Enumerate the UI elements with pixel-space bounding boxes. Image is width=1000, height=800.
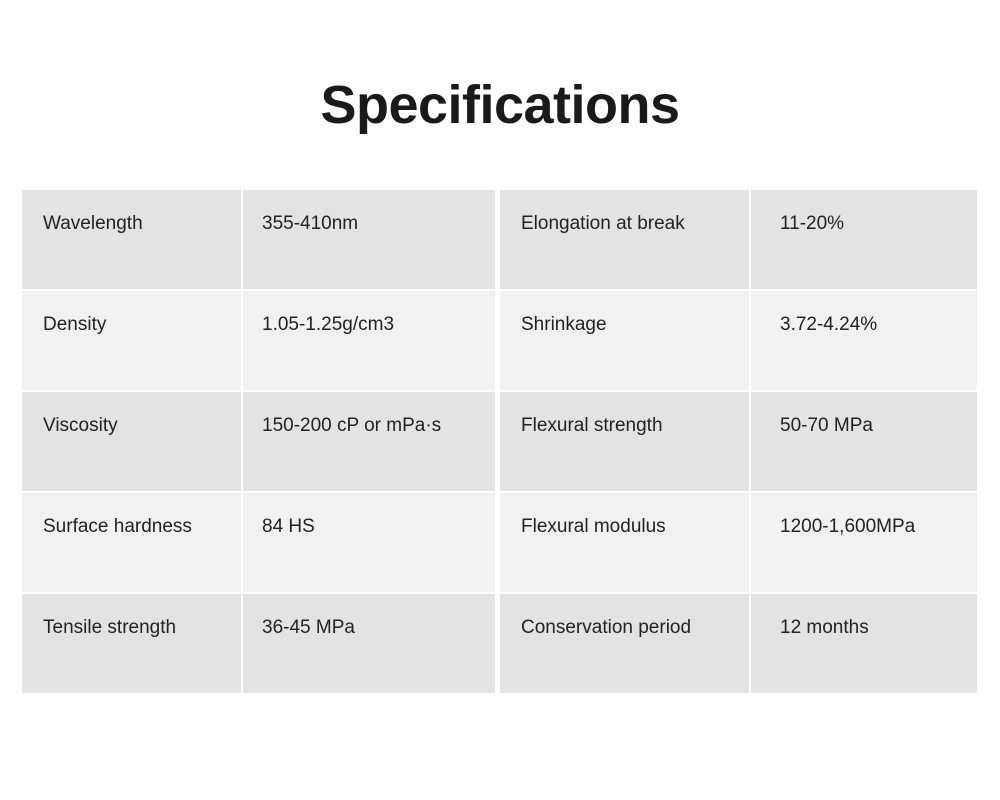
table-row-right-pair: Flexural modulus 1200-1,600MPa bbox=[500, 493, 977, 592]
table-row-left-pair: Tensile strength 36-45 MPa bbox=[22, 594, 495, 693]
spec-label: Tensile strength bbox=[22, 594, 241, 693]
table-row: Wavelength 355-410nm Elongation at break… bbox=[22, 190, 977, 289]
spec-value: 50-70 MPa bbox=[751, 392, 977, 491]
specifications-page: Specifications Wavelength 355-410nm Elon… bbox=[0, 0, 1000, 800]
table-row-right-pair: Flexural strength 50-70 MPa bbox=[500, 392, 977, 491]
spec-value: 355-410nm bbox=[243, 190, 495, 289]
spec-value: 36-45 MPa bbox=[243, 594, 495, 693]
table-row: Density 1.05-1.25g/cm3 Shrinkage 3.72-4.… bbox=[22, 291, 977, 390]
spec-value: 150-200 cP or mPa·s bbox=[243, 392, 495, 491]
spec-value: 1200-1,600MPa bbox=[751, 493, 977, 592]
table-row-left-pair: Viscosity 150-200 cP or mPa·s bbox=[22, 392, 495, 491]
spec-label: Conservation period bbox=[500, 594, 749, 693]
spec-value: 11-20% bbox=[751, 190, 977, 289]
spec-label: Flexural strength bbox=[500, 392, 749, 491]
spec-value: 3.72-4.24% bbox=[751, 291, 977, 390]
table-row: Viscosity 150-200 cP or mPa·s Flexural s… bbox=[22, 392, 977, 491]
spec-label: Elongation at break bbox=[500, 190, 749, 289]
table-row-right-pair: Elongation at break 11-20% bbox=[500, 190, 977, 289]
spec-label: Surface hardness bbox=[22, 493, 241, 592]
table-row-right-pair: Conservation period 12 months bbox=[500, 594, 977, 693]
table-row-right-pair: Shrinkage 3.72-4.24% bbox=[500, 291, 977, 390]
table-row: Tensile strength 36-45 MPa Conservation … bbox=[22, 594, 977, 693]
table-row-left-pair: Density 1.05-1.25g/cm3 bbox=[22, 291, 495, 390]
spec-label: Flexural modulus bbox=[500, 493, 749, 592]
spec-value: 1.05-1.25g/cm3 bbox=[243, 291, 495, 390]
spec-label: Viscosity bbox=[22, 392, 241, 491]
spec-label: Wavelength bbox=[22, 190, 241, 289]
spec-value: 84 HS bbox=[243, 493, 495, 592]
table-row: Surface hardness 84 HS Flexural modulus … bbox=[22, 493, 977, 592]
specifications-table: Wavelength 355-410nm Elongation at break… bbox=[22, 190, 977, 694]
spec-label: Density bbox=[22, 291, 241, 390]
spec-label: Shrinkage bbox=[500, 291, 749, 390]
spec-value: 12 months bbox=[751, 594, 977, 693]
table-row-left-pair: Wavelength 355-410nm bbox=[22, 190, 495, 289]
table-row-left-pair: Surface hardness 84 HS bbox=[22, 493, 495, 592]
page-title: Specifications bbox=[0, 76, 1000, 135]
